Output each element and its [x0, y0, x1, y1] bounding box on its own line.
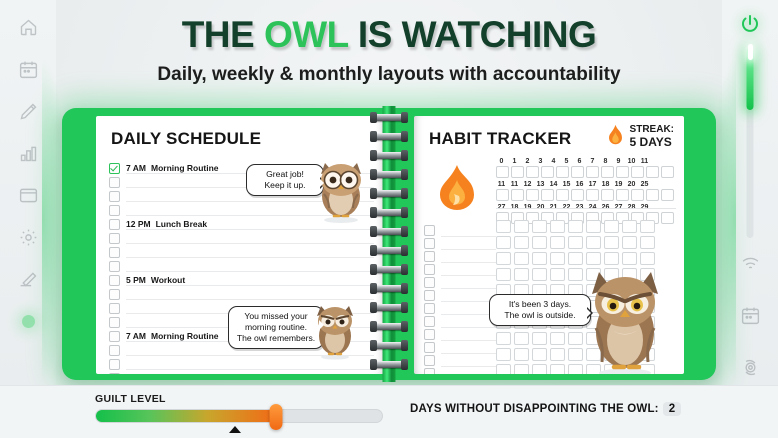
habit-day-checkbox[interactable]: [586, 189, 599, 201]
habit-cell[interactable]: [586, 220, 601, 233]
window-icon[interactable]: [15, 182, 41, 208]
habit-cell[interactable]: [604, 252, 619, 265]
owl-avatar-glasses: [312, 158, 370, 229]
habit-cell[interactable]: [496, 332, 511, 345]
habit-cell[interactable]: [496, 268, 511, 281]
spiral-ring: [371, 171, 407, 178]
schedule-label: Workout: [151, 275, 185, 285]
streak-label: STREAK:: [630, 124, 674, 135]
habit-grid-row: 01234567891011: [496, 158, 674, 178]
habit-cell[interactable]: [550, 364, 565, 374]
days-count-badge: 2: [663, 402, 682, 416]
days-without-label: DAYS WITHOUT DISAPPOINTING THE OWL:2: [410, 402, 681, 416]
schedule-checkbox[interactable]: [109, 219, 120, 230]
schedule-checkbox[interactable]: [109, 205, 120, 216]
schedule-row[interactable]: [109, 371, 374, 374]
owl-avatar-stern-large: [582, 268, 668, 374]
habit-cell[interactable]: [514, 220, 529, 233]
guilt-slider-fill: [96, 410, 276, 422]
schedule-checkbox[interactable]: [109, 247, 120, 258]
habit-cell[interactable]: [514, 364, 529, 374]
habit-cell[interactable]: [640, 236, 655, 249]
wifi-icon[interactable]: [737, 250, 763, 276]
calendar-icon[interactable]: [737, 302, 763, 328]
habit-cell[interactable]: [622, 236, 637, 249]
habit-list-line: [441, 290, 496, 302]
habit-day-checkbox[interactable]: [511, 166, 524, 178]
habit-list-line: [441, 238, 496, 250]
spiral-ring: [371, 323, 407, 330]
habit-day-number: 11: [509, 181, 520, 188]
schedule-row[interactable]: [109, 287, 374, 301]
spiral-ring: [371, 247, 407, 254]
habit-tracker-page: HABIT TRACKER STREAK:5 DAYS 012345678910…: [414, 116, 684, 374]
habit-list-checkbox[interactable]: [424, 342, 435, 353]
habit-list-checkbox[interactable]: [424, 264, 435, 275]
schedule-row[interactable]: [109, 259, 374, 273]
spiral-ring: [371, 114, 407, 121]
bar-chart-icon[interactable]: [15, 140, 41, 166]
schedule-checkbox[interactable]: [109, 345, 120, 356]
habit-list-line: [441, 303, 496, 315]
habit-day-checkbox[interactable]: [661, 212, 674, 224]
habit-side-rows: [424, 224, 496, 374]
habit-cell[interactable]: [568, 220, 583, 233]
habit-cell[interactable]: [514, 332, 529, 345]
habit-cell[interactable]: [550, 220, 565, 233]
days-label-text: DAYS WITHOUT DISAPPOINTING THE OWL:: [410, 403, 659, 415]
schedule-label: Morning Routine: [151, 331, 219, 341]
owl-avatar-stern-small: [310, 302, 360, 365]
spiral-ring: [371, 190, 407, 197]
schedule-label: Morning Routine: [151, 163, 219, 173]
habit-cell[interactable]: [640, 220, 655, 233]
habit-cell[interactable]: [496, 364, 511, 374]
habit-cell[interactable]: [568, 268, 583, 281]
habit-list-row[interactable]: [424, 341, 496, 354]
habit-cell[interactable]: [532, 364, 547, 374]
habit-list-checkbox[interactable]: [424, 251, 435, 262]
home-icon[interactable]: [15, 14, 41, 40]
habit-list-row[interactable]: [424, 315, 496, 328]
habit-list-checkbox[interactable]: [424, 316, 435, 327]
spiral-ring: [371, 285, 407, 292]
schedule-checkbox[interactable]: [109, 191, 120, 202]
habit-cell[interactable]: [514, 348, 529, 361]
pencil-icon[interactable]: [15, 98, 41, 124]
habit-day-checkbox[interactable]: [616, 189, 629, 201]
habit-day-number: 4: [548, 158, 559, 165]
habit-day-checkbox[interactable]: [541, 189, 554, 201]
spiral-ring: [371, 152, 407, 159]
app-root: THE OWL IS WATCHING Daily, weekly & mont…: [0, 0, 778, 438]
habit-list-line: [441, 329, 496, 341]
schedule-row[interactable]: [109, 245, 374, 259]
title-part-1: THE: [182, 14, 264, 55]
habit-list-row[interactable]: [424, 276, 496, 289]
habit-list-checkbox[interactable]: [424, 225, 435, 236]
notebook: DAILY SCHEDULE 7 AMMorning Routine12 PML…: [62, 108, 716, 380]
habit-list-row[interactable]: [424, 302, 496, 315]
owl-bubble-outside: It's been 3 days.The owl is outside.: [489, 294, 591, 326]
habit-cell[interactable]: [568, 332, 583, 345]
habit-list-checkbox[interactable]: [424, 238, 435, 249]
habit-day-checkbox[interactable]: [631, 189, 644, 201]
habit-day-checkbox[interactable]: [556, 166, 569, 178]
habit-cell[interactable]: [622, 252, 637, 265]
habit-list-row[interactable]: [424, 289, 496, 302]
daily-heading: DAILY SCHEDULE: [111, 129, 261, 149]
streak-badge: STREAK:5 DAYS: [606, 124, 674, 148]
habit-list-checkbox[interactable]: [424, 277, 435, 288]
habit-heading: HABIT TRACKER: [429, 129, 571, 149]
habit-list-line: [441, 251, 496, 263]
habit-list-checkbox[interactable]: [424, 290, 435, 301]
spiral-ring: [371, 361, 407, 368]
spiral-ring: [371, 266, 407, 273]
habit-list-row[interactable]: [424, 263, 496, 276]
habit-day-checkbox[interactable]: [616, 166, 629, 178]
streak-value: 5 DAYS: [630, 136, 674, 148]
habit-list-line: [441, 368, 496, 375]
schedule-line: [126, 246, 374, 258]
spiral-ring: [371, 228, 407, 235]
habit-list-line: [441, 277, 496, 289]
habit-cell[interactable]: [550, 268, 565, 281]
habit-day-number: 2: [522, 158, 533, 165]
habit-day-checkbox[interactable]: [646, 189, 659, 201]
schedule-row[interactable]: [109, 231, 374, 245]
habit-day-checkbox[interactable]: [646, 166, 659, 178]
schedule-line: [126, 288, 374, 300]
habit-day-number: 1: [509, 158, 520, 165]
habit-day-number: 16: [574, 181, 585, 188]
habit-grid-numbers: 111112131415161718192025: [496, 181, 674, 188]
habit-cell[interactable]: [622, 220, 637, 233]
schedule-time: 5 PM: [126, 275, 146, 285]
habit-cell[interactable]: [532, 236, 547, 249]
habit-day-checkbox[interactable]: [556, 189, 569, 201]
habit-cell[interactable]: [550, 348, 565, 361]
habit-cell[interactable]: [496, 220, 511, 233]
habit-day-checkbox[interactable]: [601, 166, 614, 178]
schedule-line: [126, 372, 374, 374]
habit-cell[interactable]: [568, 252, 583, 265]
page-title: THE OWL IS WATCHING: [0, 14, 778, 56]
habit-cell[interactable]: [532, 268, 547, 281]
habit-day-number: 8: [600, 158, 611, 165]
schedule-checkbox[interactable]: [109, 275, 120, 286]
habit-day-number: 7: [587, 158, 598, 165]
schedule-row[interactable]: 5 PMWorkout: [109, 273, 374, 287]
habit-cell[interactable]: [586, 236, 601, 249]
habit-day-checkbox[interactable]: [601, 189, 614, 201]
schedule-line: 5 PMWorkout: [126, 274, 374, 286]
notebook-spine: [383, 106, 396, 382]
page-subtitle: Daily, weekly & monthly layouts with acc…: [0, 64, 778, 86]
schedule-checkbox[interactable]: [109, 177, 120, 188]
calendar-icon[interactable]: [15, 56, 41, 82]
guilt-slider-caret: [229, 426, 241, 433]
habit-cell[interactable]: [550, 332, 565, 345]
habit-cell[interactable]: [568, 364, 583, 374]
daily-schedule-page: DAILY SCHEDULE 7 AMMorning Routine12 PML…: [96, 116, 384, 374]
habit-day-checkbox[interactable]: [571, 166, 584, 178]
habit-list-checkbox[interactable]: [424, 368, 435, 374]
habit-day-checkbox[interactable]: [526, 166, 539, 178]
habit-day-number: 15: [561, 181, 572, 188]
habit-day-number: 9: [613, 158, 624, 165]
habit-list-line: [441, 264, 496, 276]
title-part-2: IS WATCHING: [348, 14, 596, 55]
habit-list-row[interactable]: [424, 354, 496, 367]
habit-cell[interactable]: [532, 252, 547, 265]
habit-cell-row: [496, 252, 655, 265]
habit-day-number: 17: [587, 181, 598, 188]
habit-cell[interactable]: [604, 220, 619, 233]
habit-day-number: 18: [600, 181, 611, 188]
habit-day-number: 10: [626, 158, 637, 165]
schedule-checkbox[interactable]: [109, 233, 120, 244]
habit-day-checkbox[interactable]: [571, 189, 584, 201]
habit-list-row[interactable]: [424, 237, 496, 250]
habit-day-checkbox[interactable]: [631, 166, 644, 178]
gear-icon[interactable]: [15, 224, 41, 250]
schedule-checkbox[interactable]: [109, 303, 120, 314]
spiral-ring: [371, 342, 407, 349]
habit-list-line: [441, 355, 496, 367]
habit-day-checkbox[interactable]: [511, 189, 524, 201]
habit-grid-boxes: [496, 166, 674, 178]
habit-day-checkbox[interactable]: [661, 166, 674, 178]
guilt-level-slider[interactable]: [95, 409, 383, 423]
habit-list-checkbox[interactable]: [424, 329, 435, 340]
habit-list-checkbox[interactable]: [424, 303, 435, 314]
schedule-checkbox[interactable]: [109, 331, 120, 342]
left-sidebar: [0, 0, 56, 438]
title-highlight: OWL: [264, 14, 348, 55]
bottom-bar: GUILT LEVEL DAYS WITHOUT DISAPPOINTING T…: [0, 385, 778, 438]
habit-list-row[interactable]: [424, 250, 496, 263]
habit-grid-boxes: [496, 189, 674, 201]
habit-day-checkbox[interactable]: [661, 189, 674, 201]
habit-list-row[interactable]: [424, 328, 496, 341]
schedule-checkbox[interactable]: [109, 163, 120, 174]
habit-list-row[interactable]: [424, 367, 496, 374]
spiral-ring: [371, 304, 407, 311]
habit-cell[interactable]: [532, 332, 547, 345]
habit-list-checkbox[interactable]: [424, 355, 435, 366]
habit-day-number: 14: [548, 181, 559, 188]
habit-grid-numbers: 01234567891011: [496, 158, 674, 165]
habit-number-grid: 0123456789101111111213141516171819202527…: [496, 158, 674, 227]
habit-list-line: [441, 316, 496, 328]
habit-cell[interactable]: [496, 348, 511, 361]
habit-cell[interactable]: [604, 236, 619, 249]
schedule-time: 7 AM: [126, 331, 146, 341]
schedule-checkbox[interactable]: [109, 289, 120, 300]
big-flame-icon: [436, 164, 478, 223]
habit-cell[interactable]: [586, 252, 601, 265]
habit-cell[interactable]: [550, 236, 565, 249]
flame-icon: [606, 124, 625, 148]
schedule-checkbox[interactable]: [109, 261, 120, 272]
habit-day-checkbox[interactable]: [496, 166, 509, 178]
habit-day-number: 5: [561, 158, 572, 165]
brush-icon[interactable]: [15, 266, 41, 292]
habit-cell-row: [496, 220, 655, 233]
schedule-time: 7 AM: [126, 163, 146, 173]
habit-day-checkbox[interactable]: [541, 166, 554, 178]
habit-cell[interactable]: [550, 252, 565, 265]
habit-day-number: 13: [535, 181, 546, 188]
guilt-level-label: GUILT LEVEL: [95, 393, 166, 405]
habit-list-line: [441, 225, 496, 237]
habit-day-checkbox[interactable]: [526, 189, 539, 201]
habit-cell-row: [496, 236, 655, 249]
habit-day-number: 11: [639, 158, 650, 165]
habit-cell[interactable]: [514, 236, 529, 249]
habit-day-number: 6: [574, 158, 585, 165]
habit-cell[interactable]: [496, 236, 511, 249]
habit-day-number: 25: [639, 181, 650, 188]
schedule-line: [126, 260, 374, 272]
spiral-binding: [369, 106, 409, 382]
habit-cell[interactable]: [496, 252, 511, 265]
camera-refresh-icon[interactable]: [737, 354, 763, 380]
grid-divider: [496, 208, 676, 209]
habit-day-checkbox[interactable]: [586, 166, 599, 178]
habit-day-checkbox[interactable]: [496, 189, 509, 201]
habit-day-number: 11: [496, 181, 507, 188]
habit-day-number: 0: [496, 158, 507, 165]
habit-list-line: [441, 342, 496, 354]
habit-cell[interactable]: [532, 348, 547, 361]
guilt-slider-knob[interactable]: [270, 404, 283, 430]
habit-day-number: 3: [535, 158, 546, 165]
schedule-time: 12 PM: [126, 219, 151, 229]
habit-cell[interactable]: [640, 252, 655, 265]
schedule-checkbox[interactable]: [109, 317, 120, 328]
habit-cell[interactable]: [532, 220, 547, 233]
habit-cell[interactable]: [568, 348, 583, 361]
habit-grid-row: 111112131415161718192025: [496, 181, 674, 201]
spiral-ring: [371, 209, 407, 216]
habit-day-number: 12: [522, 181, 533, 188]
habit-cell[interactable]: [514, 252, 529, 265]
habit-cell[interactable]: [568, 236, 583, 249]
habit-day-number: 19: [613, 181, 624, 188]
habit-list-row[interactable]: [424, 224, 496, 237]
schedule-line: [126, 232, 374, 244]
habit-cell[interactable]: [514, 268, 529, 281]
active-dot-indicator[interactable]: [15, 308, 41, 334]
schedule-checkbox[interactable]: [109, 359, 120, 370]
spiral-ring: [371, 133, 407, 140]
schedule-checkbox[interactable]: [109, 373, 120, 375]
schedule-label: Lunch Break: [156, 219, 208, 229]
habit-day-number: 20: [626, 181, 637, 188]
